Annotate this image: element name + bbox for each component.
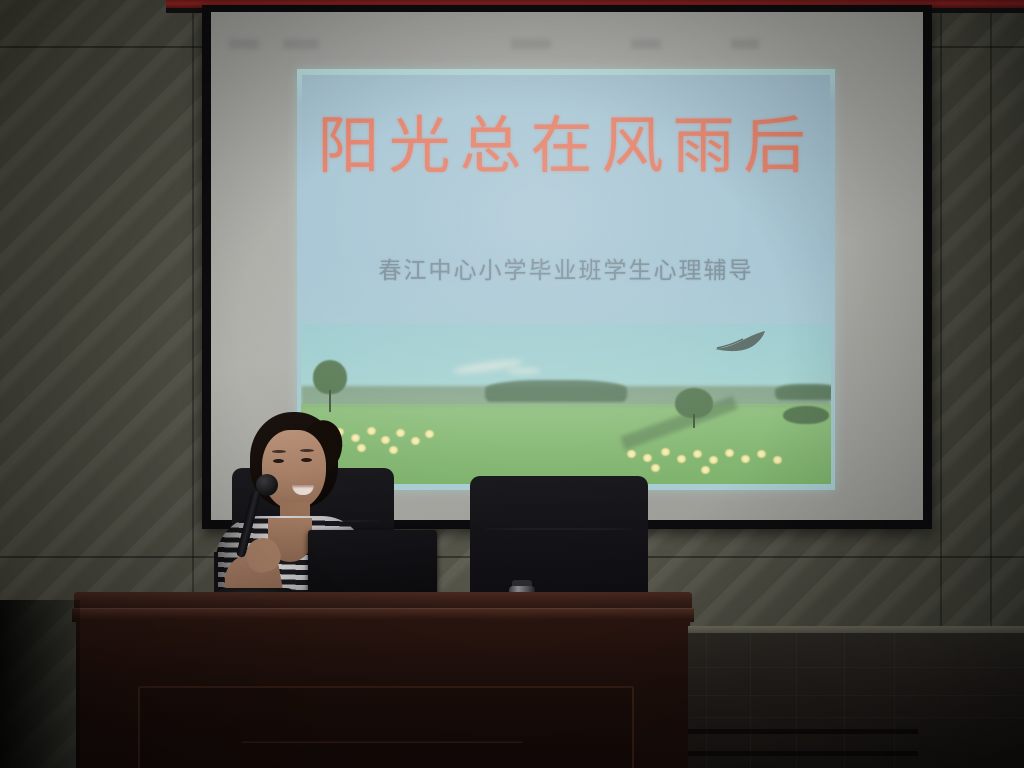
presenter-face: [262, 430, 326, 510]
artwork-flower: [396, 429, 405, 437]
artwork-flower: [661, 448, 670, 456]
artwork-flower: [773, 456, 782, 464]
presenter-eye-right: [301, 458, 312, 462]
projector-artifact-2: [283, 39, 319, 49]
floor-tile-line: [688, 695, 1024, 696]
wall-seam-vertical-far-right: [990, 0, 992, 640]
artwork-flower: [693, 450, 702, 458]
floor-tile-seam: [706, 633, 707, 768]
artwork-treeline-right: [775, 384, 831, 400]
artwork-field-seam: [301, 404, 831, 407]
chair-right-seam: [484, 528, 634, 530]
presenter-brow-left: [272, 450, 286, 453]
floor-tile-line: [688, 717, 1024, 718]
chair-right: [470, 476, 648, 608]
wall-seam-vertical-left: [192, 0, 194, 620]
floor-tile-line: [688, 667, 1024, 668]
artwork-flower: [741, 455, 750, 463]
photo-canvas: 阳光总在风雨后 春江中心小学毕业班学生心理辅导: [0, 0, 1024, 768]
artwork-tree-left-trunk: [329, 390, 331, 412]
wall-seam-vertical-right: [940, 0, 942, 640]
floor-tile-seam: [750, 633, 751, 768]
floor-tile-seam: [796, 633, 797, 768]
artwork-flower: [627, 450, 636, 458]
floor-step-edge: [688, 729, 918, 734]
artwork-flower: [757, 450, 766, 458]
artwork-flower: [677, 455, 686, 463]
artwork-flower: [389, 446, 398, 454]
artwork-flower: [651, 464, 660, 472]
slide-title: 阳光总在风雨后: [297, 115, 835, 177]
projector-artifact-5: [731, 39, 759, 49]
artwork-flower: [643, 454, 652, 462]
artwork-tree-far-right: [783, 406, 829, 424]
artwork-cloud-small: [507, 368, 541, 374]
presenter-brow-right: [300, 449, 314, 452]
artwork-flower: [725, 449, 734, 457]
floor-tile-seam: [894, 633, 895, 768]
projector-artifact-4: [631, 39, 661, 49]
artwork-flower: [701, 466, 710, 474]
floor: [688, 633, 1024, 768]
podium-left-shadow: [0, 600, 80, 768]
artwork-flower: [425, 430, 434, 438]
projector-artifact-1: [229, 39, 259, 49]
artwork-flower: [709, 456, 718, 464]
projector-artifact-3: [511, 39, 551, 49]
floor-tile-seam: [844, 633, 845, 768]
artwork-flower: [411, 437, 420, 445]
slide-subtitle: 春江中心小学毕业班学生心理辅导: [297, 251, 835, 285]
artwork-tree-left: [313, 360, 347, 394]
floor-step-edge: [688, 751, 918, 756]
podium-diamond-detail: [220, 741, 544, 768]
artwork-treeline-center: [485, 380, 627, 402]
microphone-head-icon[interactable]: [256, 474, 278, 496]
presenter-eye-left: [273, 459, 284, 463]
artwork-tree-right-trunk: [693, 414, 695, 428]
